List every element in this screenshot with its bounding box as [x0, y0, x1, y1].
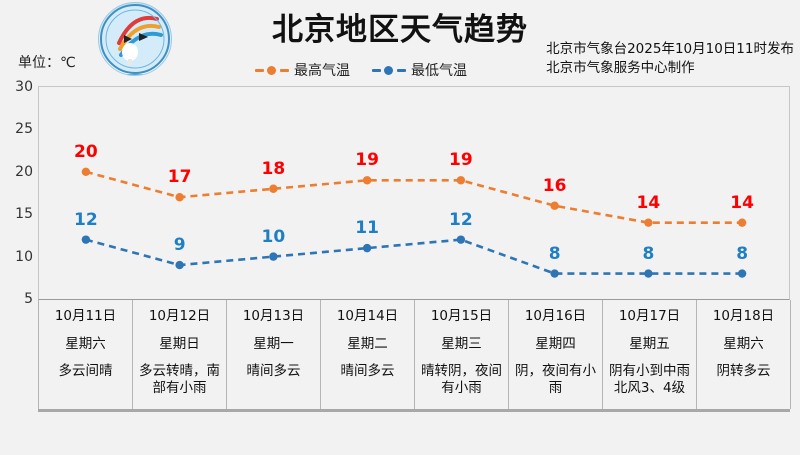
legend-marker-high-icon — [255, 65, 289, 75]
forecast-weekday: 星期一 — [253, 335, 294, 354]
plot-area: 2017181919161414129101112888 — [38, 86, 790, 300]
forecast-description: 阴，夜间有小雨 — [509, 363, 602, 397]
forecast-date: 10月12日 — [149, 307, 210, 326]
legend-label-low: 最低气温 — [411, 60, 467, 80]
value-label-high: 14 — [730, 193, 754, 213]
forecast-weekday: 星期二 — [347, 335, 388, 354]
header: 北京地区天气趋势 单位：℃ 最高气温 最低气温 北京市气象台2025年10月10… — [0, 0, 800, 86]
y-axis-tick: 20 — [15, 164, 33, 180]
data-point — [363, 176, 371, 184]
forecast-column: 10月17日星期五阴有小到中雨北风3、4级 — [602, 300, 697, 409]
forecast-column: 10月18日星期六阴转多云 — [696, 300, 791, 409]
forecast-date: 10月13日 — [243, 307, 304, 326]
forecast-description: 多云间晴 — [57, 363, 115, 380]
data-point — [269, 185, 277, 193]
data-point — [644, 269, 652, 277]
forecast-column: 10月14日星期二晴间多云 — [320, 300, 415, 409]
value-label-low: 12 — [74, 210, 98, 230]
forecast-description: 晴间多云 — [245, 363, 303, 380]
value-label-low: 9 — [174, 235, 186, 255]
forecast-column: 10月15日星期三晴转阴，夜间有小雨 — [414, 300, 509, 409]
value-label-high: 14 — [637, 193, 661, 213]
legend-label-high: 最高气温 — [294, 60, 350, 80]
value-label-low: 8 — [549, 244, 561, 264]
forecast-description: 阴有小到中雨北风3、4级 — [603, 363, 696, 397]
data-point — [175, 193, 183, 201]
forecast-column: 10月13日星期一晴间多云 — [226, 300, 321, 409]
unit-label: 单位：℃ — [18, 52, 76, 72]
y-axis: 51015202530 — [0, 86, 38, 300]
forecast-date: 10月18日 — [713, 307, 774, 326]
y-axis-tick: 30 — [15, 79, 33, 95]
forecast-date: 10月17日 — [619, 307, 680, 326]
forecast-description: 阴转多云 — [715, 363, 773, 380]
data-point — [82, 235, 90, 243]
data-point — [269, 252, 277, 260]
y-axis-tick: 15 — [15, 206, 33, 222]
data-point — [457, 235, 465, 243]
data-point — [363, 244, 371, 252]
forecast-column: 10月11日星期六多云间晴 — [38, 300, 133, 409]
forecast-weekday: 星期四 — [535, 335, 576, 354]
forecast-column: 10月16日星期四阴，夜间有小雨 — [508, 300, 603, 409]
forecast-date: 10月16日 — [525, 307, 586, 326]
forecast-description: 晴间多云 — [339, 363, 397, 380]
data-point — [738, 218, 746, 226]
value-label-low: 10 — [262, 227, 286, 247]
forecast-date: 10月15日 — [431, 307, 492, 326]
forecast-date: 10月14日 — [337, 307, 398, 326]
forecast-date: 10月11日 — [55, 307, 116, 326]
issuer-line-2: 北京市气象服务中心制作 — [546, 59, 794, 78]
data-point — [738, 269, 746, 277]
chart-lines — [39, 87, 789, 299]
forecast-weekday: 星期五 — [629, 335, 670, 354]
value-label-low: 8 — [642, 244, 654, 264]
forecast-weekday: 星期六 — [65, 335, 106, 354]
value-label-high: 20 — [74, 142, 98, 162]
issuer-line-1: 北京市气象台2025年10月10日11时发布 — [546, 40, 794, 59]
legend-item-low: 最低气温 — [372, 60, 467, 80]
forecast-description: 晴转阴，夜间有小雨 — [415, 363, 508, 397]
chart-legend: 最高气温 最低气温 — [255, 60, 467, 80]
data-point — [550, 269, 558, 277]
legend-marker-low-icon — [372, 65, 406, 75]
data-point — [82, 168, 90, 176]
data-point — [644, 218, 652, 226]
legend-item-high: 最高气温 — [255, 60, 350, 80]
issuer-info: 北京市气象台2025年10月10日11时发布 北京市气象服务中心制作 — [546, 40, 794, 78]
value-label-high: 19 — [449, 150, 473, 170]
value-label-high: 17 — [168, 167, 192, 187]
value-label-low: 11 — [355, 218, 379, 238]
forecast-weekday: 星期六 — [723, 335, 764, 354]
y-axis-tick: 5 — [24, 291, 33, 307]
y-axis-tick: 10 — [15, 249, 33, 265]
forecast-description: 多云转晴，南部有小雨 — [133, 363, 226, 397]
y-axis-tick: 25 — [15, 121, 33, 137]
value-label-high: 16 — [543, 176, 567, 196]
forecast-weekday: 星期三 — [441, 335, 482, 354]
value-label-low: 8 — [736, 244, 748, 264]
value-label-high: 19 — [355, 150, 379, 170]
data-point — [175, 261, 183, 269]
forecast-weekday: 星期日 — [159, 335, 200, 354]
temperature-trend-chart: 51015202530 2017181919161414129101112888 — [0, 86, 800, 300]
forecast-table: 10月11日星期六多云间晴10月12日星期日多云转晴，南部有小雨10月13日星期… — [38, 300, 790, 412]
data-point — [457, 176, 465, 184]
data-point — [550, 202, 558, 210]
value-label-low: 12 — [449, 210, 473, 230]
forecast-column: 10月12日星期日多云转晴，南部有小雨 — [132, 300, 227, 409]
value-label-high: 18 — [262, 159, 286, 179]
